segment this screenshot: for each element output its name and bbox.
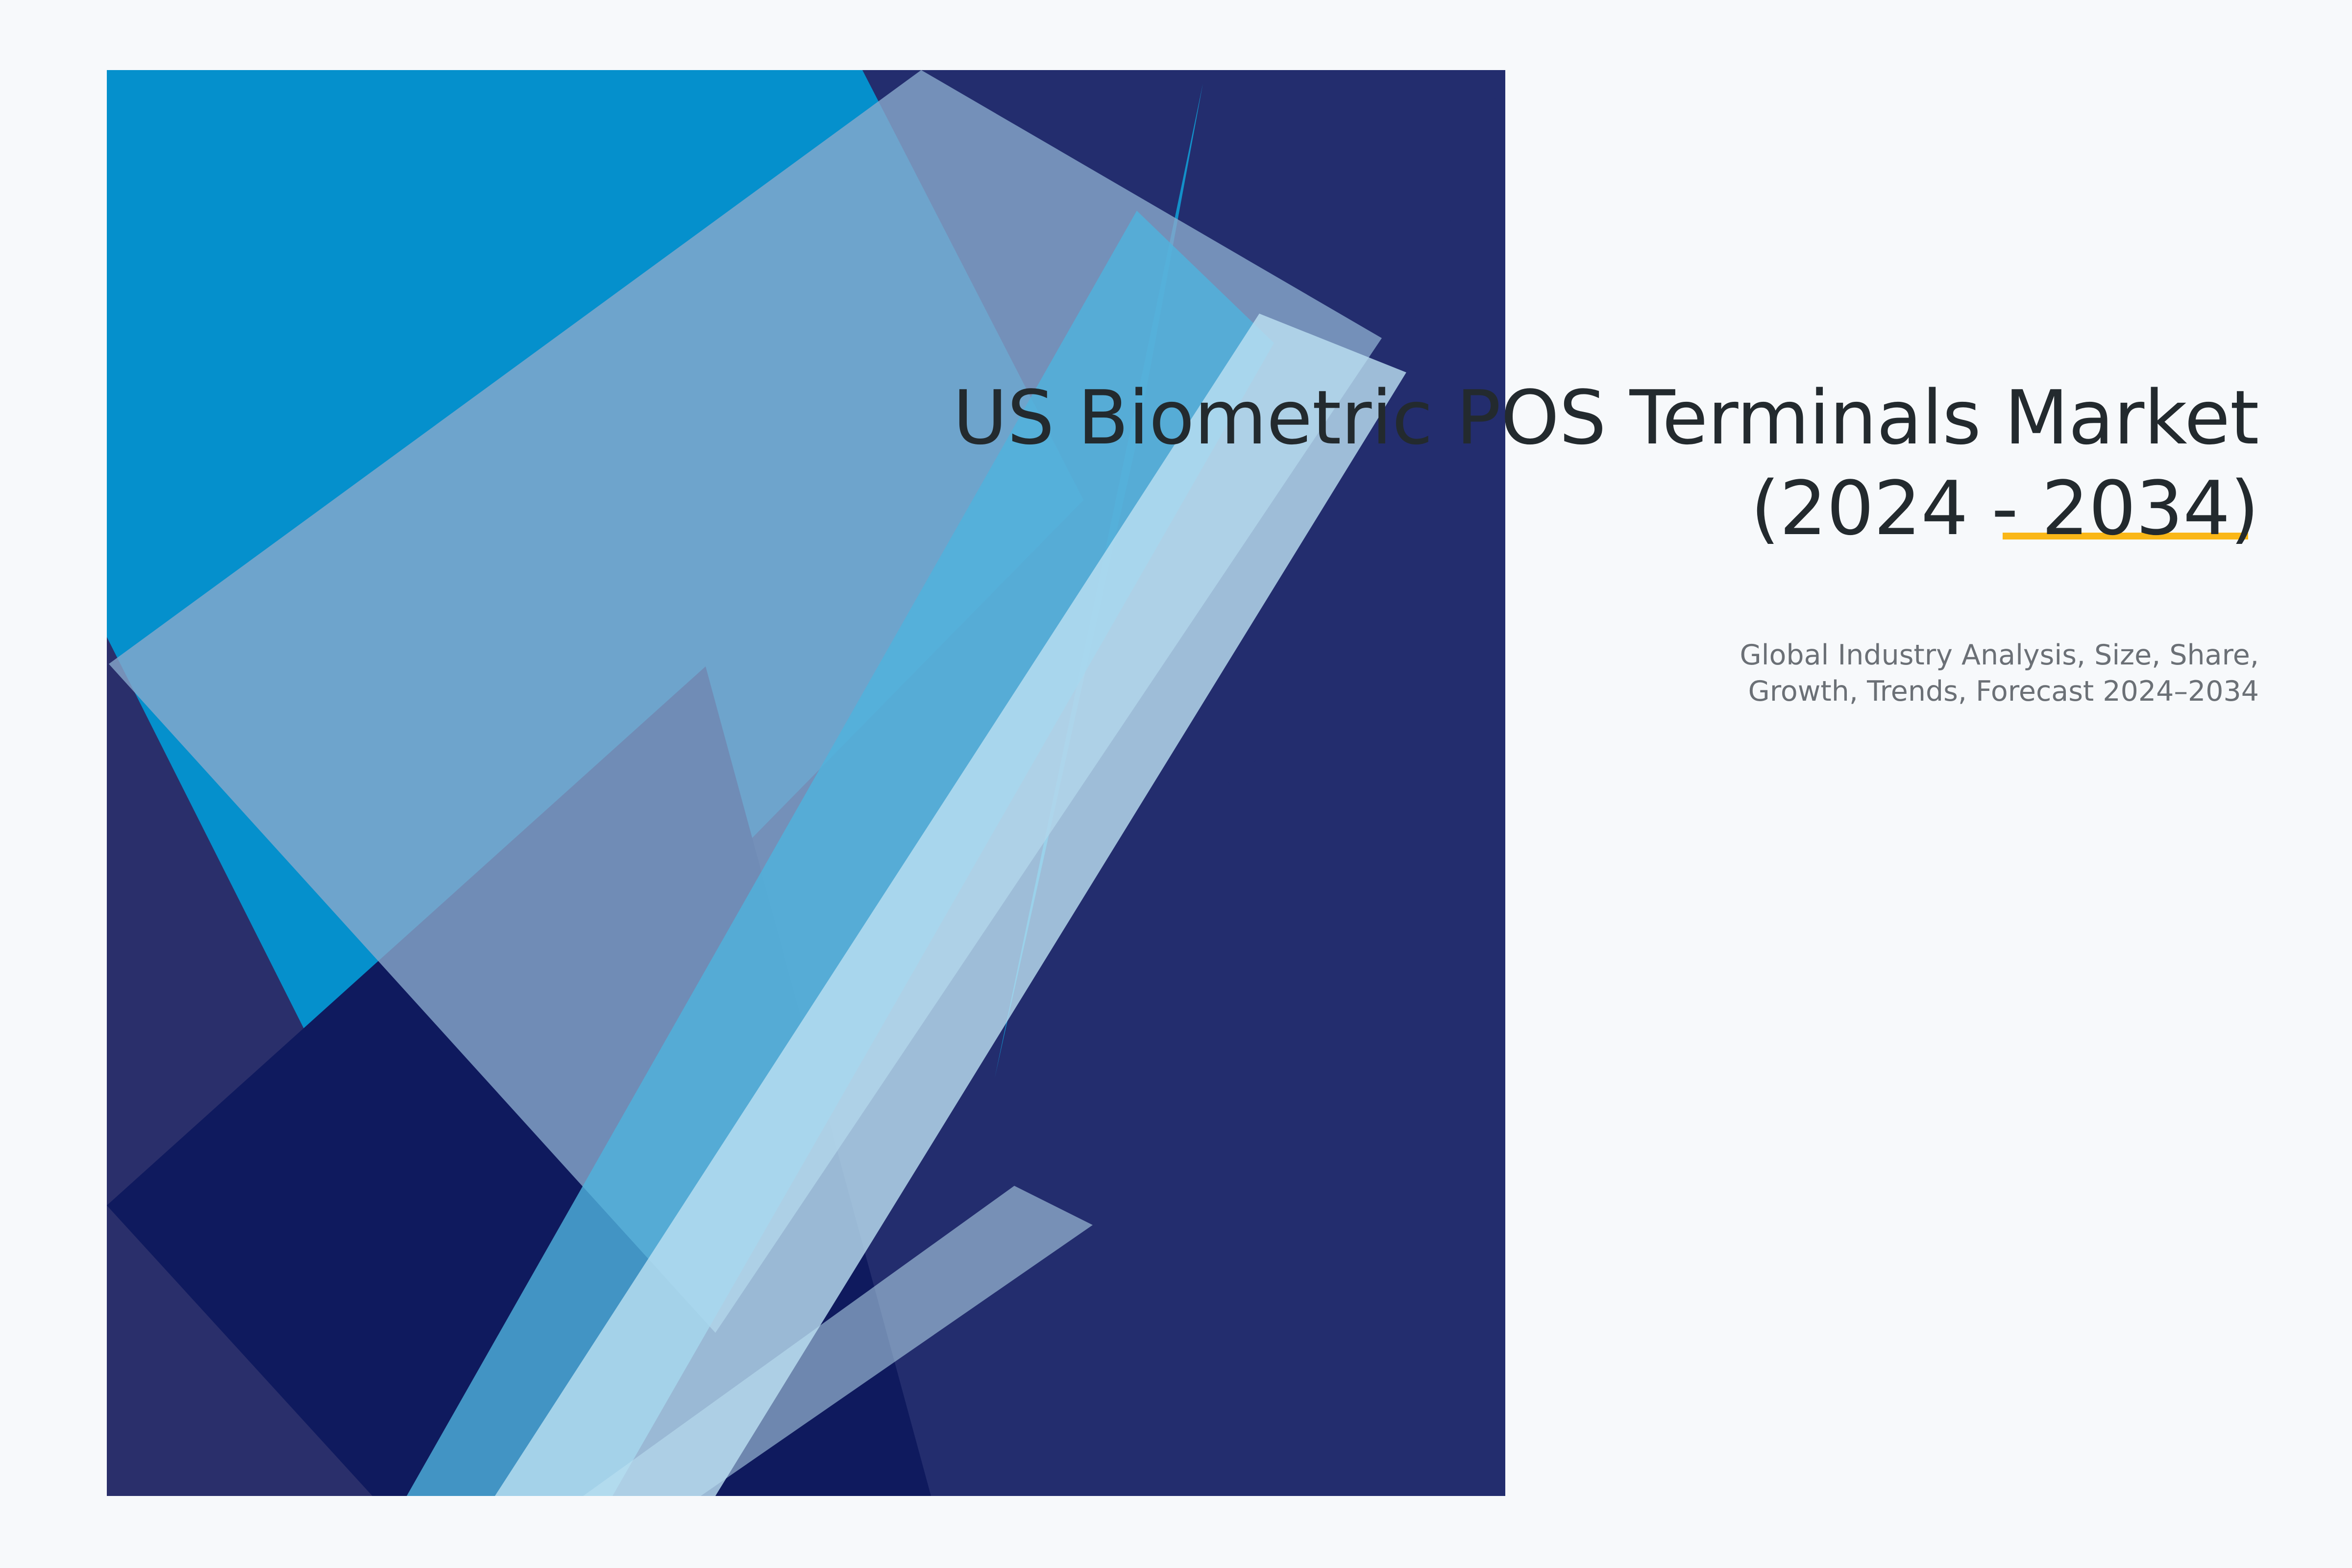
report-cover: US Biometric POS Terminals Market (2024 … <box>0 0 2352 1568</box>
page-title: US Biometric POS Terminals Market (2024 … <box>735 372 2259 554</box>
cover-artwork <box>0 0 2352 1568</box>
page-subtitle: Global Industry Analysis, Size, Share, G… <box>1274 637 2259 710</box>
title-block: US Biometric POS Terminals Market (2024 … <box>735 372 2259 554</box>
